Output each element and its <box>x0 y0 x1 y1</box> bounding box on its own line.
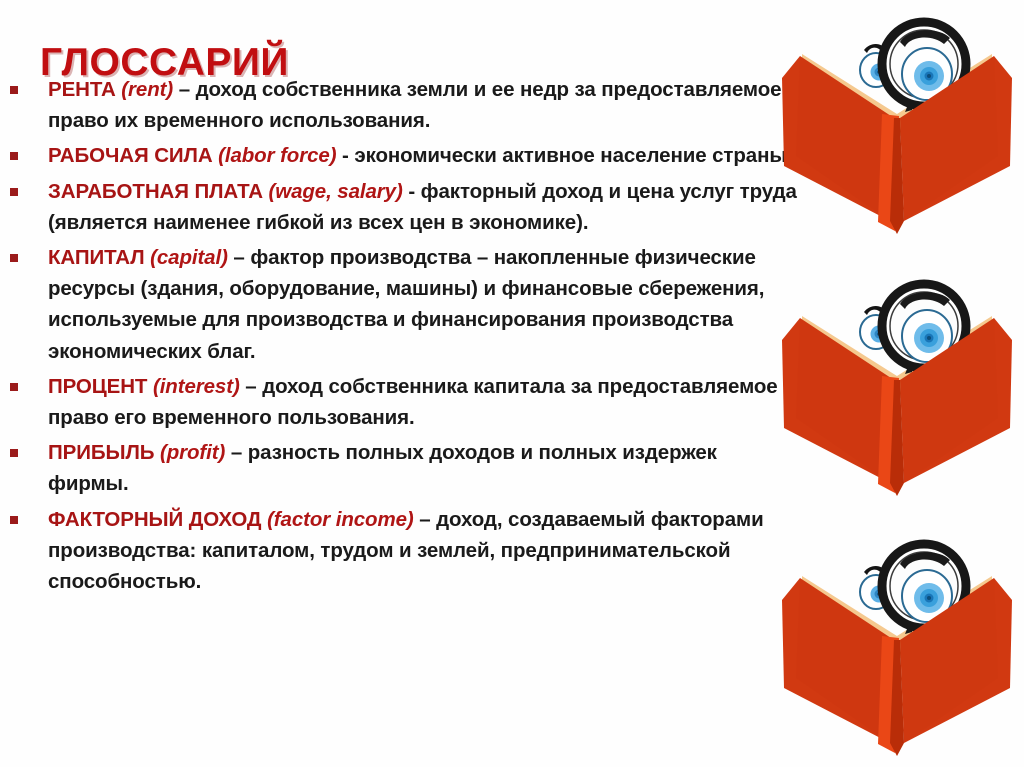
list-item: РАБОЧАЯ СИЛА (labor force) - экономическ… <box>0 140 800 171</box>
glossary-term-english: (wage, salary) <box>269 180 403 203</box>
list-item: ПРИБЫЛЬ (profit) – разность полных доход… <box>0 437 800 499</box>
bullet-square-icon <box>10 152 18 160</box>
open-book-with-magnifier-icon <box>772 6 1022 256</box>
bullet-square-icon <box>10 86 18 94</box>
glossary-term-english: (profit) <box>160 441 225 464</box>
bullet-square-icon <box>10 188 18 196</box>
glossary-term: РЕНТА <box>48 78 116 101</box>
glossary-term-english: (interest) <box>153 375 240 398</box>
open-book-with-magnifier-icon <box>772 528 1022 767</box>
list-item: ПРОЦЕНТ (interest) – доход собственника … <box>0 371 800 433</box>
glossary-term: ПРОЦЕНТ <box>48 375 147 398</box>
glossary-term-english: (labor force) <box>218 144 336 167</box>
glossary-definition: - экономически активное население страны… <box>342 144 792 167</box>
glossary-term: ЗАРАБОТНАЯ ПЛАТА <box>48 180 263 203</box>
list-item: ЗАРАБОТНАЯ ПЛАТА (wage, salary) - фактор… <box>0 176 800 238</box>
glossary-term: ПРИБЫЛЬ <box>48 441 154 464</box>
open-book-with-magnifier-icon <box>772 268 1022 518</box>
glossary-term: РАБОЧАЯ СИЛА <box>48 144 213 167</box>
list-item: РЕНТА (rent) – доход собственника земли … <box>0 74 800 136</box>
slide-canvas: ГЛОССАРИЙ РЕНТА (rent) – доход собственн… <box>0 0 1024 767</box>
list-item: ФАКТОРНЫЙ ДОХОД (factor income) – доход,… <box>0 504 800 598</box>
bullet-square-icon <box>10 516 18 524</box>
glossary-term-english: (rent) <box>121 78 173 101</box>
glossary-term: ФАКТОРНЫЙ ДОХОД <box>48 508 261 531</box>
bullet-square-icon <box>10 254 18 262</box>
glossary-term-english: (factor income) <box>267 508 414 531</box>
glossary-term-english: (capital) <box>150 246 228 269</box>
list-item: КАПИТАЛ (capital) – фактор производства … <box>0 242 800 367</box>
glossary-list: РЕНТА (rent) – доход собственника земли … <box>0 74 800 601</box>
glossary-term: КАПИТАЛ <box>48 246 145 269</box>
bullet-square-icon <box>10 383 18 391</box>
bullet-square-icon <box>10 449 18 457</box>
